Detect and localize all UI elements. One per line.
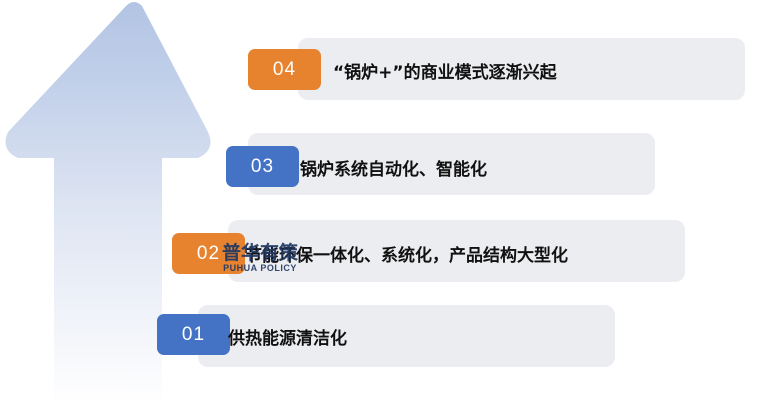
infographic-canvas: 04 “锅炉+”的商业模式逐渐兴起 03 锅炉系统自动化、智能化 02 节能环保… bbox=[0, 0, 759, 405]
step-label-01: 供热能源清洁化 bbox=[228, 324, 347, 349]
step-label-04: “锅炉+”的商业模式逐渐兴起 bbox=[333, 58, 557, 83]
step-number-badge-02[interactable]: 02 bbox=[172, 233, 245, 274]
step-number-badge-03[interactable]: 03 bbox=[226, 146, 299, 187]
step-label-02: 节能环保一体化、系统化，产品结构大型化 bbox=[245, 241, 568, 266]
step-number-badge-04[interactable]: 04 bbox=[248, 49, 321, 90]
step-label-03: 锅炉系统自动化、智能化 bbox=[300, 155, 487, 180]
step-number-badge-01[interactable]: 01 bbox=[157, 314, 230, 355]
